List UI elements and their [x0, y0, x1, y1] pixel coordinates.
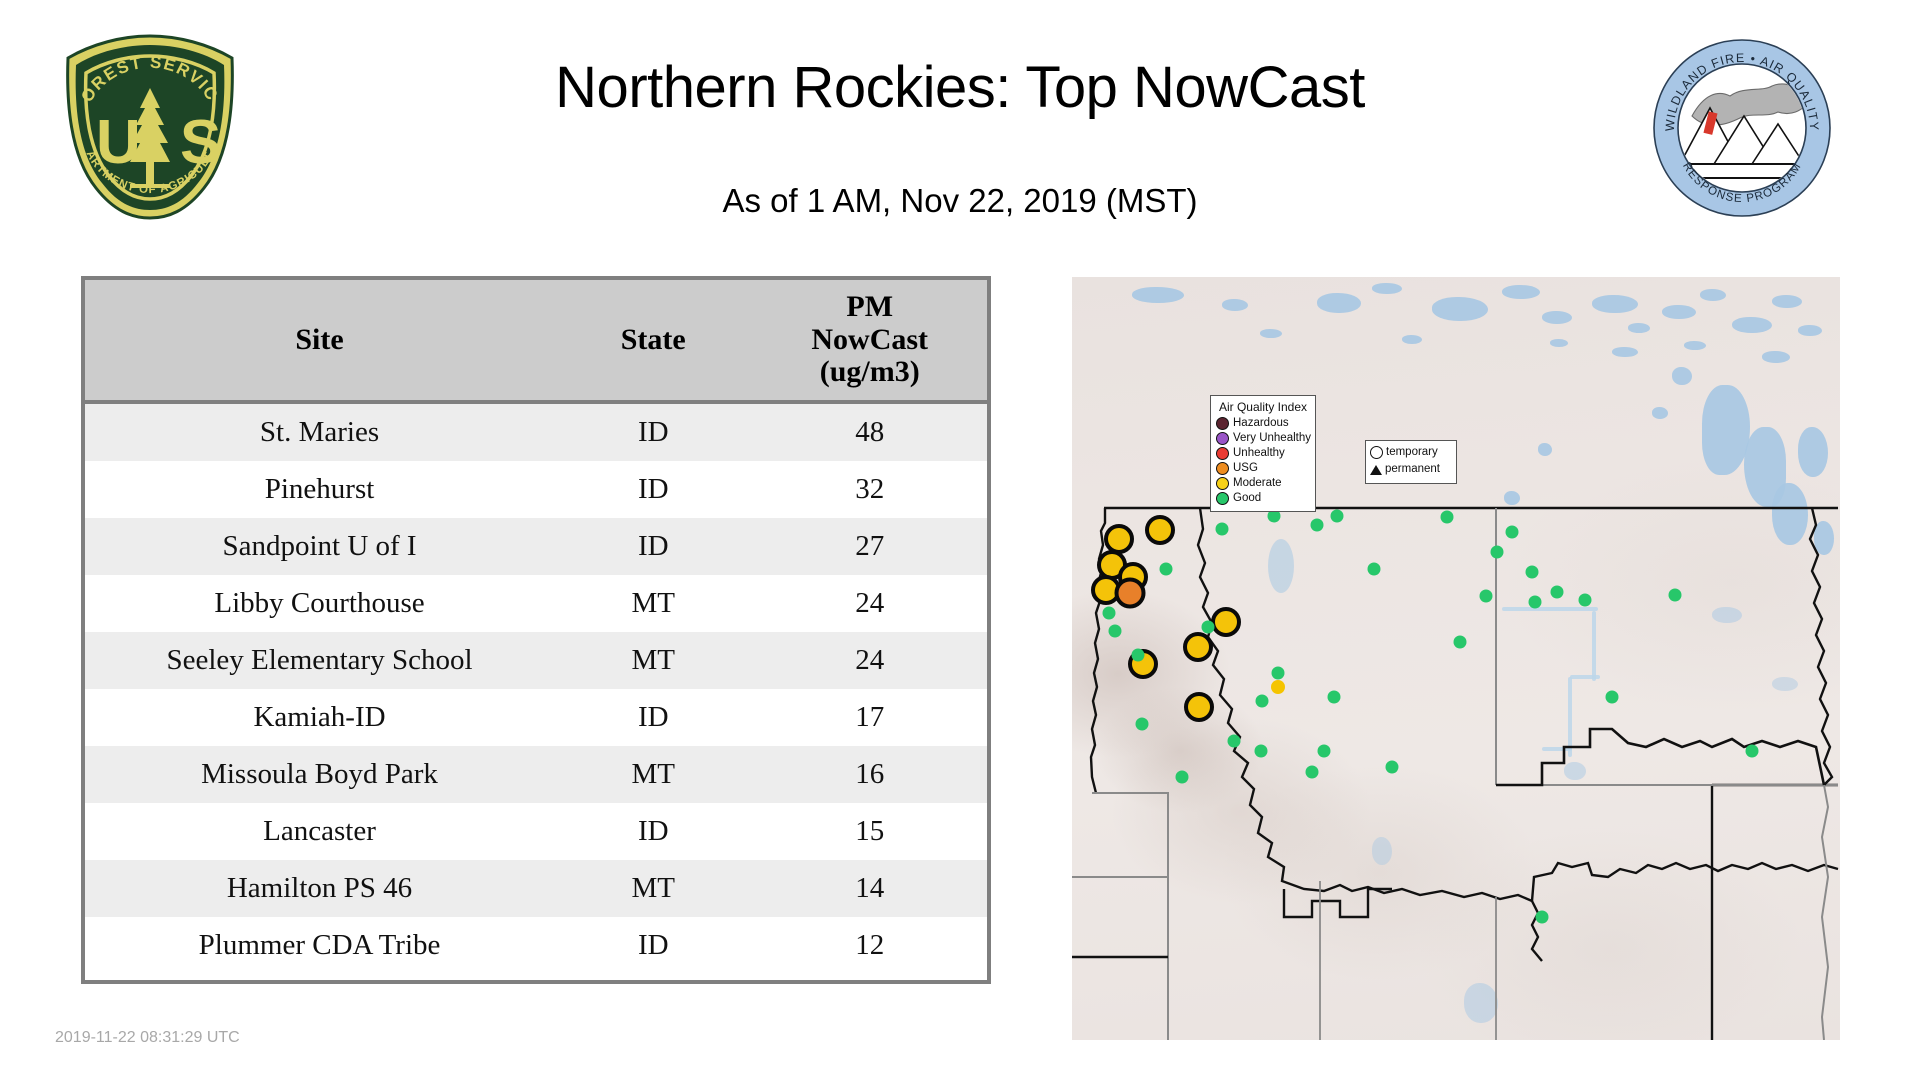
- monitor-site-dot[interactable]: [1669, 589, 1682, 602]
- monitor-type-legend: temporary permanent: [1365, 440, 1457, 484]
- monitor-site-dot[interactable]: [1103, 607, 1116, 620]
- cell-state: MT: [554, 746, 752, 803]
- cell-state: MT: [554, 860, 752, 917]
- aqi-color-swatch-icon: [1216, 477, 1229, 490]
- monitor-site-dot[interactable]: [1160, 563, 1173, 576]
- air-quality-monitor-map[interactable]: Air Quality Index HazardousVery Unhealth…: [1072, 277, 1840, 1040]
- cell-site: Missoula Boyd Park: [85, 746, 554, 803]
- monitor-site-dot[interactable]: [1441, 511, 1454, 524]
- cell-pm-nowcast: 24: [752, 632, 987, 689]
- monitor-site-dot[interactable]: [1115, 578, 1146, 609]
- aqi-legend: Air Quality Index HazardousVery Unhealth…: [1210, 395, 1316, 512]
- monitor-site-dot[interactable]: [1318, 745, 1331, 758]
- monitor-site-dot[interactable]: [1526, 566, 1539, 579]
- aqi-legend-label: USG: [1233, 461, 1258, 476]
- generated-timestamp: 2019-11-22 08:31:29 UTC: [55, 1029, 240, 1047]
- aqi-legend-label: Good: [1233, 491, 1261, 506]
- aqi-legend-label: Hazardous: [1233, 416, 1289, 431]
- nowcast-table-container: Site State PM NowCast (ug/m3) St. Maries…: [81, 276, 991, 984]
- cell-pm-nowcast: 15: [752, 803, 987, 860]
- table-row: LancasterID15: [85, 803, 987, 860]
- monitor-site-dot[interactable]: [1136, 718, 1149, 731]
- monitor-site-dot[interactable]: [1132, 649, 1145, 662]
- cell-pm-nowcast: 48: [752, 402, 987, 461]
- monitor-site-dot[interactable]: [1551, 586, 1564, 599]
- cell-state: ID: [554, 518, 752, 575]
- monitor-type-permanent: permanent: [1370, 461, 1452, 478]
- table-row: Kamiah-IDID17: [85, 689, 987, 746]
- aqi-legend-item: Unhealthy: [1216, 446, 1310, 461]
- aqi-legend-label: Moderate: [1233, 476, 1282, 491]
- cell-state: MT: [554, 575, 752, 632]
- page-title: Northern Rockies: Top NowCast: [300, 58, 1620, 119]
- monitor-site-dot[interactable]: [1145, 515, 1175, 545]
- page-subtitle: As of 1 AM, Nov 22, 2019 (MST): [300, 182, 1620, 220]
- map-canvas: Air Quality Index HazardousVery Unhealth…: [1072, 277, 1840, 1040]
- cell-state: ID: [554, 689, 752, 746]
- table-row: Plummer CDA TribeID12: [85, 917, 987, 974]
- aqi-color-swatch-icon: [1216, 492, 1229, 505]
- aqi-legend-label: Very Unhealthy: [1233, 431, 1311, 446]
- monitor-site-dot[interactable]: [1256, 695, 1269, 708]
- cell-pm-nowcast: 16: [752, 746, 987, 803]
- fs-logo-letter-s: S: [180, 108, 221, 177]
- aqi-legend-items: HazardousVery UnhealthyUnhealthyUSGModer…: [1216, 416, 1310, 506]
- monitor-site-dot[interactable]: [1184, 692, 1214, 722]
- monitor-site-dot[interactable]: [1746, 745, 1759, 758]
- monitor-type-permanent-label: permanent: [1385, 461, 1440, 478]
- aqi-legend-item: Good: [1216, 491, 1310, 506]
- monitor-site-dot[interactable]: [1454, 636, 1467, 649]
- table-row: St. MariesID48: [85, 402, 987, 461]
- monitor-site-dot[interactable]: [1328, 691, 1341, 704]
- table-row: PinehurstID32: [85, 461, 987, 518]
- monitor-site-dot[interactable]: [1368, 563, 1381, 576]
- cell-state: ID: [554, 461, 752, 518]
- aqi-color-swatch-icon: [1216, 417, 1229, 430]
- monitor-site-dot[interactable]: [1491, 546, 1504, 559]
- aqi-legend-title: Air Quality Index: [1216, 400, 1310, 414]
- cell-site: Kamiah-ID: [85, 689, 554, 746]
- cell-pm-nowcast: 27: [752, 518, 987, 575]
- state-boundaries: [1072, 277, 1840, 1040]
- table-header-row: Site State PM NowCast (ug/m3): [85, 280, 987, 402]
- cell-pm-nowcast: 17: [752, 689, 987, 746]
- monitor-site-dot[interactable]: [1579, 594, 1592, 607]
- monitor-site-dot[interactable]: [1606, 691, 1619, 704]
- monitor-site-dot[interactable]: [1271, 680, 1285, 694]
- cell-pm-nowcast: 24: [752, 575, 987, 632]
- table-row: Sandpoint U of IID27: [85, 518, 987, 575]
- aqi-legend-item: Hazardous: [1216, 416, 1310, 431]
- monitor-site-dot[interactable]: [1216, 523, 1229, 536]
- slide-root: FOREST SERVICE DEPARTMENT OF AGRICULTURE…: [0, 0, 1920, 1080]
- cell-site: Hamilton PS 46: [85, 860, 554, 917]
- cell-pm-nowcast: 32: [752, 461, 987, 518]
- wildland-fire-air-quality-response-program-logo: WILDLAND FIRE • AIR QUALITY RESPONSE PRO…: [1652, 38, 1832, 218]
- monitor-site-dot[interactable]: [1506, 526, 1519, 539]
- table-row: Seeley Elementary SchoolMT24: [85, 632, 987, 689]
- monitor-site-dot[interactable]: [1176, 771, 1189, 784]
- cell-site: Lancaster: [85, 803, 554, 860]
- monitor-type-temporary: temporary: [1370, 444, 1452, 461]
- monitor-site-dot[interactable]: [1529, 596, 1542, 609]
- usda-forest-service-shield-logo: FOREST SERVICE DEPARTMENT OF AGRICULTURE…: [52, 32, 248, 222]
- pm-header-line-1: PM: [756, 291, 983, 323]
- cell-site: Pinehurst: [85, 461, 554, 518]
- monitor-type-temporary-label: temporary: [1386, 444, 1438, 461]
- aqi-legend-label: Unhealthy: [1233, 446, 1285, 461]
- cell-site: Seeley Elementary School: [85, 632, 554, 689]
- cell-state: ID: [554, 917, 752, 974]
- aqi-color-swatch-icon: [1216, 462, 1229, 475]
- cell-state: ID: [554, 803, 752, 860]
- cell-state: MT: [554, 632, 752, 689]
- monitor-site-dot[interactable]: [1386, 761, 1399, 774]
- monitor-site-dot[interactable]: [1255, 745, 1268, 758]
- aqi-legend-item: Moderate: [1216, 476, 1310, 491]
- triangle-icon: [1370, 465, 1382, 475]
- cell-pm-nowcast: 14: [752, 860, 987, 917]
- pm-header-line-2: NowCast: [756, 324, 983, 356]
- cell-state: ID: [554, 402, 752, 461]
- monitor-site-dot[interactable]: [1109, 625, 1122, 638]
- nowcast-table: Site State PM NowCast (ug/m3) St. Maries…: [85, 280, 987, 974]
- pm-header-line-3: (ug/m3): [756, 356, 983, 388]
- aqi-color-swatch-icon: [1216, 432, 1229, 445]
- aqi-legend-item: USG: [1216, 461, 1310, 476]
- cell-site: Sandpoint U of I: [85, 518, 554, 575]
- monitor-site-dot[interactable]: [1311, 519, 1324, 532]
- table-row: Libby CourthouseMT24: [85, 575, 987, 632]
- monitor-site-dot[interactable]: [1211, 607, 1241, 637]
- table-row: Missoula Boyd ParkMT16: [85, 746, 987, 803]
- aqi-color-swatch-icon: [1216, 447, 1229, 460]
- table-body: St. MariesID48PinehurstID32Sandpoint U o…: [85, 402, 987, 974]
- monitor-site-dot[interactable]: [1183, 632, 1213, 662]
- monitor-site-dot[interactable]: [1228, 735, 1241, 748]
- table-row: Hamilton PS 46MT14: [85, 860, 987, 917]
- monitor-site-dot[interactable]: [1331, 510, 1344, 523]
- cell-pm-nowcast: 12: [752, 917, 987, 974]
- column-header-pm-nowcast: PM NowCast (ug/m3): [752, 280, 987, 402]
- monitor-site-dot[interactable]: [1536, 911, 1549, 924]
- monitor-site-dot[interactable]: [1272, 667, 1285, 680]
- monitor-site-dot[interactable]: [1306, 766, 1319, 779]
- cell-site: Libby Courthouse: [85, 575, 554, 632]
- cell-site: St. Maries: [85, 402, 554, 461]
- monitor-site-dot[interactable]: [1480, 590, 1493, 603]
- column-header-site: Site: [85, 280, 554, 402]
- circle-icon: [1370, 446, 1383, 459]
- column-header-state: State: [554, 280, 752, 402]
- monitor-site-dot[interactable]: [1202, 621, 1215, 634]
- cell-site: Plummer CDA Tribe: [85, 917, 554, 974]
- aqi-legend-item: Very Unhealthy: [1216, 431, 1310, 446]
